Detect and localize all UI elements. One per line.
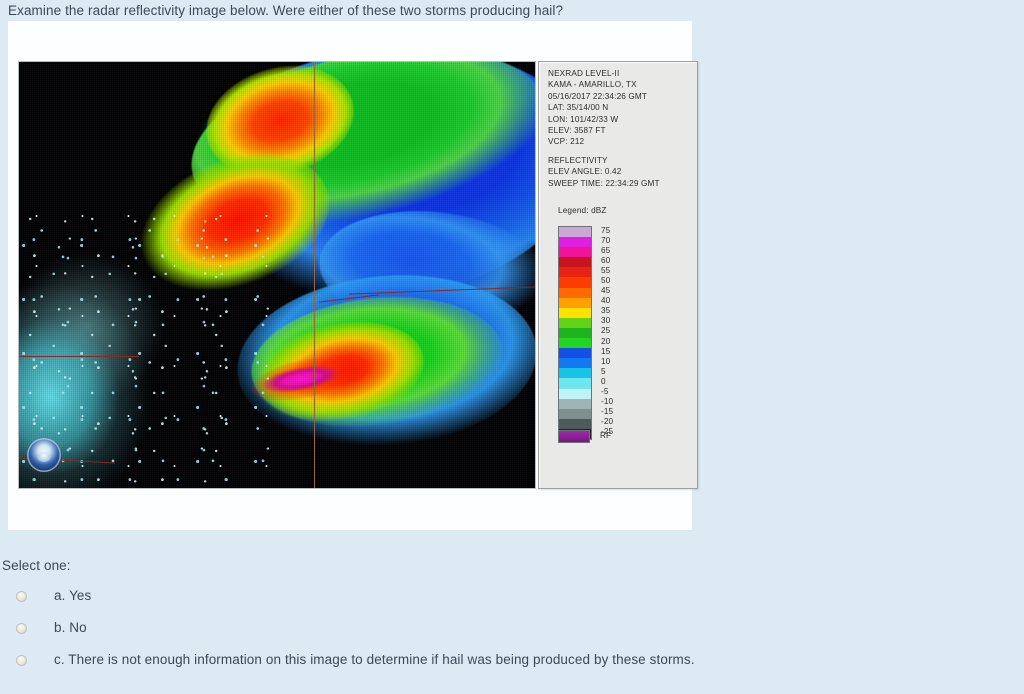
answer-option-yes[interactable]: a. Yes — [2, 585, 1002, 617]
dbz-scale-label: 35 — [601, 306, 610, 316]
dbz-scale-label: 55 — [601, 266, 610, 276]
dbz-scale-row: 70 — [559, 237, 591, 247]
dbz-scale-swatch — [559, 288, 591, 298]
dbz-scale-swatch — [559, 378, 591, 388]
dbz-scale-row: 75 — [559, 227, 591, 237]
answer-option-label[interactable]: b. No — [54, 618, 87, 638]
dbz-scale-label: 0 — [601, 377, 606, 387]
dbz-scale-label: 15 — [601, 347, 610, 357]
dbz-scale-label: 50 — [601, 276, 610, 286]
dbz-scale-row: -20 — [559, 419, 591, 429]
dbz-scale-row: -15 — [559, 409, 591, 419]
dbz-scale-row: 55 — [559, 267, 591, 277]
radio-button-yes[interactable] — [16, 591, 27, 602]
dbz-scale-row: 60 — [559, 257, 591, 267]
dbz-scale-row: -5 — [559, 389, 591, 399]
dbz-scale-label: -20 — [601, 417, 613, 427]
radio-button-no[interactable] — [16, 623, 27, 634]
dbz-scale-row: 30 — [559, 318, 591, 328]
dbz-scale-label: -15 — [601, 407, 613, 417]
dbz-scale-swatch — [559, 358, 591, 368]
answer-option-label[interactable]: a. Yes — [54, 586, 91, 606]
dbz-scale-swatch — [559, 308, 591, 318]
dbz-scale-swatch — [559, 419, 591, 429]
dbz-scale-row: 5 — [559, 368, 591, 378]
question-stem: Examine the radar reflectivity image bel… — [8, 2, 563, 19]
dbz-scale-label: 65 — [601, 246, 610, 256]
answer-options: a. Yesb. Noc. There is not enough inform… — [2, 585, 1002, 681]
radar-sweep-time: SWEEP TIME: 22:34:29 GMT — [548, 178, 660, 189]
dbz-scale-label: 30 — [601, 316, 610, 326]
dbz-scale-row: -10 — [559, 399, 591, 409]
radar-longitude: LON: 101/42/33 W — [548, 114, 660, 125]
dbz-scale-label: 45 — [601, 286, 610, 296]
radar-site: KAMA - AMARILLO, TX — [548, 79, 660, 90]
radar-vcp: VCP: 212 — [548, 136, 660, 147]
select-one-prompt: Select one: — [2, 558, 71, 573]
dbz-scale-swatch — [559, 338, 591, 348]
dbz-scale-swatch — [559, 227, 591, 237]
dbz-scale-swatch — [559, 298, 591, 308]
answer-option-not-enough-info[interactable]: c. There is not enough information on th… — [2, 649, 1002, 681]
dbz-scale-label: 60 — [601, 256, 610, 266]
dbz-scale-row: 50 — [559, 277, 591, 287]
radar-timestamp: 05/16/2017 22:34:26 GMT — [548, 91, 660, 102]
dbz-scale-swatch — [559, 409, 591, 419]
dbz-scale-label: 5 — [601, 367, 606, 377]
noaa-logo — [27, 438, 61, 472]
radio-button-not-enough-info[interactable] — [16, 655, 27, 666]
dbz-scale-label: 70 — [601, 236, 610, 246]
radar-image — [18, 61, 536, 489]
dbz-scale-row: 45 — [559, 288, 591, 298]
dbz-scale-label: -10 — [601, 397, 613, 407]
dbz-scale-label: -5 — [601, 387, 608, 397]
dbz-scale-row: 15 — [559, 348, 591, 358]
metadata-spacer — [548, 148, 660, 155]
dbz-scale-label: 10 — [601, 357, 610, 367]
dbz-color-bar: 757065605550454035302520151050-5-10-15-2… — [558, 226, 592, 440]
answer-option-label[interactable]: c. There is not enough information on th… — [54, 650, 695, 670]
rf-label: RF — [600, 431, 611, 440]
dbz-scale-row: 20 — [559, 338, 591, 348]
dbz-scale-label: 25 — [601, 326, 610, 336]
dbz-scale-swatch — [559, 257, 591, 267]
dbz-scale-label: 20 — [601, 337, 610, 347]
dbz-scale-swatch — [559, 237, 591, 247]
dbz-scale-row: 10 — [559, 358, 591, 368]
dbz-scale-swatch — [559, 348, 591, 358]
dbz-scale-swatch — [559, 328, 591, 338]
question-content-panel: NEXRAD LEVEL-II KAMA - AMARILLO, TX 05/1… — [8, 21, 692, 530]
dbz-scale-row: 35 — [559, 308, 591, 318]
dbz-scale-swatch — [559, 368, 591, 378]
dbz-color-scale: 757065605550454035302520151050-5-10-15-2… — [558, 226, 678, 440]
dbz-scale-swatch — [559, 247, 591, 257]
radar-product-header: NEXRAD LEVEL-II — [548, 68, 660, 79]
radar-product-name: REFLECTIVITY — [548, 155, 660, 166]
dbz-scale-row: 65 — [559, 247, 591, 257]
dbz-scale-swatch — [559, 267, 591, 277]
dbz-scale-swatch — [559, 318, 591, 328]
dbz-scale-swatch — [559, 389, 591, 399]
radar-elev-angle: ELEV ANGLE: 0.42 — [548, 166, 660, 177]
rf-legend-entry: RF — [558, 430, 678, 443]
rf-color-swatch — [558, 430, 590, 443]
dbz-scale-swatch — [559, 399, 591, 409]
legend-title: Legend: dBZ — [558, 206, 607, 215]
dbz-scale-row: 25 — [559, 328, 591, 338]
dbz-scale-label: 75 — [601, 226, 610, 236]
dbz-scale-swatch — [559, 277, 591, 287]
radar-elevation: ELEV: 3587 FT — [548, 125, 660, 136]
dbz-scale-row: 0 — [559, 378, 591, 388]
answer-option-no[interactable]: b. No — [2, 617, 1002, 649]
radar-reflectivity-figure: NEXRAD LEVEL-II KAMA - AMARILLO, TX 05/1… — [10, 61, 690, 489]
radar-legend-panel: NEXRAD LEVEL-II KAMA - AMARILLO, TX 05/1… — [538, 61, 698, 489]
dbz-scale-row: 40 — [559, 298, 591, 308]
radar-latitude: LAT: 35/14/00 N — [548, 102, 660, 113]
radar-metadata-block: NEXRAD LEVEL-II KAMA - AMARILLO, TX 05/1… — [548, 68, 660, 189]
dbz-scale-label: 40 — [601, 296, 610, 306]
